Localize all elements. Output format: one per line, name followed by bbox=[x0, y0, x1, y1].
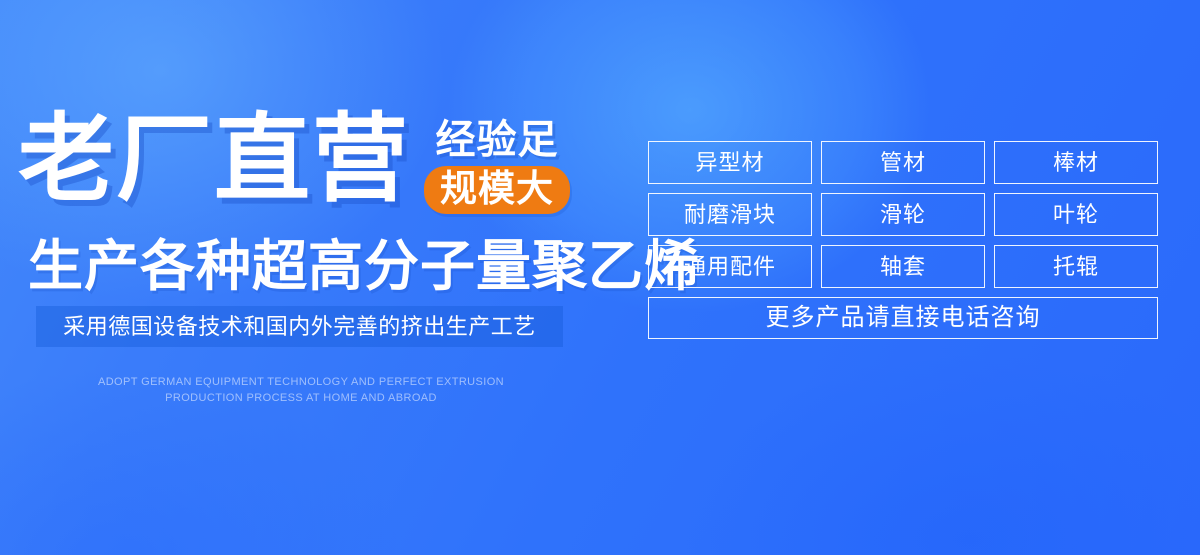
product-category-grid: 异型材 管材 棒材 耐磨滑块 滑轮 叶轮 通用配件 轴套 托辊 更多产品请直接电… bbox=[648, 141, 1158, 348]
product-button-tuogun[interactable]: 托辊 bbox=[994, 245, 1158, 288]
headline-badge-stack: 经验足 规模大 bbox=[424, 118, 570, 214]
english-subtitle: ADOPT GERMAN EQUIPMENT TECHNOLOGY AND PE… bbox=[36, 374, 566, 406]
badge-scale-pill: 规模大 bbox=[424, 166, 570, 214]
product-button-zhoutao[interactable]: 轴套 bbox=[821, 245, 985, 288]
product-button-hualun[interactable]: 滑轮 bbox=[821, 193, 985, 236]
product-row-4: 更多产品请直接电话咨询 bbox=[648, 297, 1158, 339]
product-button-tongyongpeijian[interactable]: 通用配件 bbox=[648, 245, 812, 288]
badge-experience: 经验足 bbox=[436, 118, 559, 162]
product-button-yixingcai[interactable]: 异型材 bbox=[648, 141, 812, 184]
product-row-2: 耐磨滑块 滑轮 叶轮 bbox=[648, 193, 1158, 236]
headline-main: 老厂直营 bbox=[18, 112, 410, 208]
more-products-button[interactable]: 更多产品请直接电话咨询 bbox=[648, 297, 1158, 339]
tagline-band: 采用德国设备技术和国内外完善的挤出生产工艺 bbox=[36, 306, 563, 347]
headline-block: 老厂直营 经验足 规模大 生产各种超高分子量聚乙烯 采用德国设备技术和国内外完善… bbox=[0, 0, 620, 555]
english-line-1: ADOPT GERMAN EQUIPMENT TECHNOLOGY AND PE… bbox=[36, 374, 566, 390]
product-row-3: 通用配件 轴套 托辊 bbox=[648, 245, 1158, 288]
product-button-guancai[interactable]: 管材 bbox=[821, 141, 985, 184]
tagline-text: 采用德国设备技术和国内外完善的挤出生产工艺 bbox=[63, 316, 536, 338]
product-button-naimohuakuai[interactable]: 耐磨滑块 bbox=[648, 193, 812, 236]
promo-banner: 老厂直营 经验足 规模大 生产各种超高分子量聚乙烯 采用德国设备技术和国内外完善… bbox=[0, 0, 1200, 555]
product-row-1: 异型材 管材 棒材 bbox=[648, 141, 1158, 184]
headline-row: 老厂直营 经验足 规模大 bbox=[18, 112, 570, 214]
product-button-bangcai[interactable]: 棒材 bbox=[994, 141, 1158, 184]
english-line-2: PRODUCTION PROCESS AT HOME AND ABROAD bbox=[36, 390, 566, 406]
subheadline: 生产各种超高分子量聚乙烯 bbox=[28, 236, 700, 296]
product-button-yelun[interactable]: 叶轮 bbox=[994, 193, 1158, 236]
